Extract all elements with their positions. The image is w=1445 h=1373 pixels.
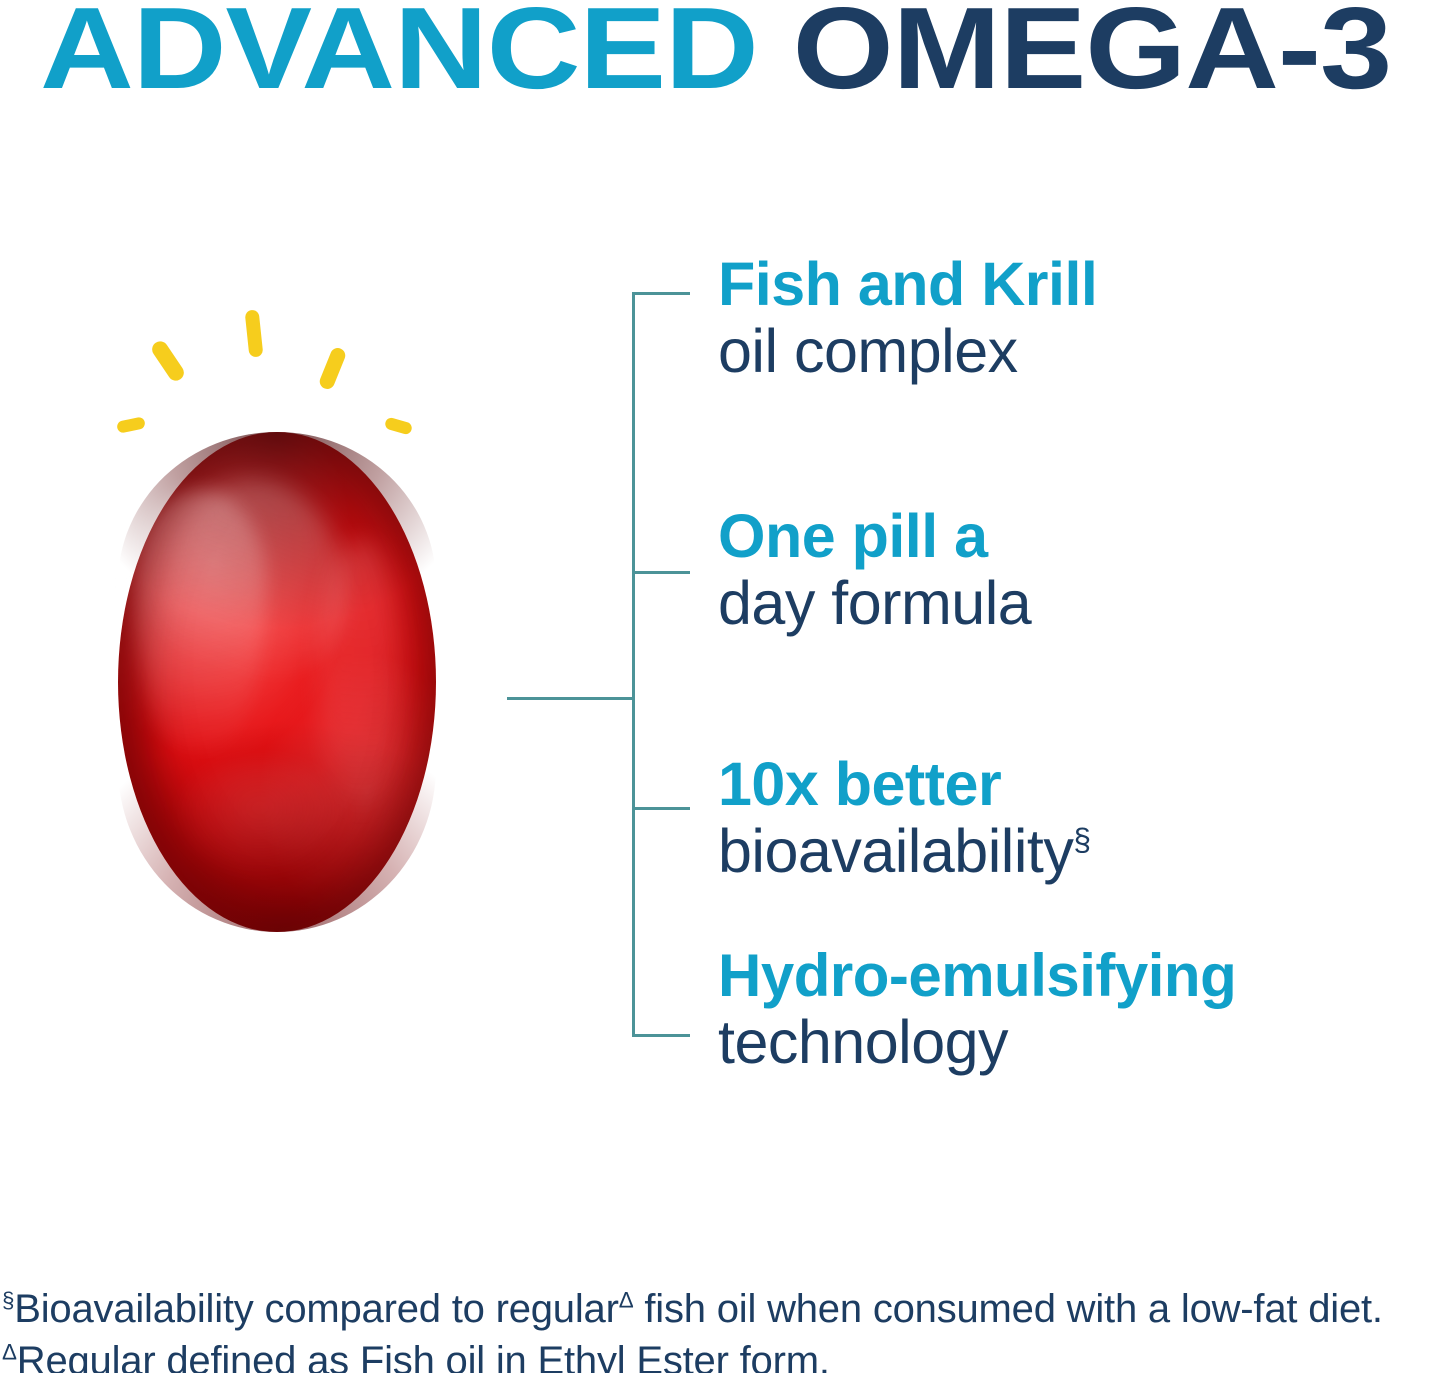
leader-spine bbox=[632, 292, 635, 1037]
sparkle-icon bbox=[116, 416, 146, 434]
title-word-omega3: OMEGA-3 bbox=[793, 0, 1392, 113]
feature-3-footnote-marker: § bbox=[1073, 821, 1090, 857]
feature-3-headline: 10x better bbox=[718, 752, 1090, 817]
feature-1-headline: Fish and Krill bbox=[718, 252, 1097, 317]
feature-item-3: 10x better bioavailability§ bbox=[718, 752, 1090, 885]
feature-2-subline-text: day formula bbox=[718, 569, 1031, 637]
footnote-block: §Bioavailability compared to regularΔ fi… bbox=[2, 1283, 1445, 1373]
leader-arm-to-product bbox=[507, 697, 634, 700]
feature-3-subline: bioavailability§ bbox=[718, 817, 1090, 885]
product-infographic: ADVANCED OMEGA-3 Fish and Krill oil comp… bbox=[0, 0, 1445, 1373]
footnote-2-marker: Δ bbox=[2, 1340, 17, 1365]
title-space bbox=[758, 0, 793, 113]
sparkle-icon bbox=[245, 309, 264, 357]
product-image bbox=[60, 290, 480, 990]
feature-1-subline-text: oil complex bbox=[718, 317, 1018, 385]
footnote-1-text-after: fish oil when consumed with a low-fat di… bbox=[633, 1287, 1382, 1331]
feature-4-subline: technology bbox=[718, 1008, 1236, 1076]
title-word-advanced: ADVANCED bbox=[40, 0, 758, 113]
sparkle-icon bbox=[317, 346, 347, 391]
footnote-2-text-before: Regular defined as Fish oil in Ethyl Est… bbox=[17, 1339, 830, 1373]
footnote-1: §Bioavailability compared to regularΔ fi… bbox=[2, 1283, 1445, 1335]
feature-1-subline: oil complex bbox=[718, 317, 1097, 385]
feature-item-4: Hydro-emulsifying technology bbox=[718, 944, 1236, 1076]
feature-2-headline: One pill a bbox=[718, 504, 1031, 569]
footnote-1-marker: § bbox=[2, 1288, 14, 1313]
leader-tick-2 bbox=[634, 571, 690, 574]
feature-3-subline-text: bioavailability bbox=[718, 817, 1073, 885]
feature-2-subline: day formula bbox=[718, 569, 1031, 637]
feature-4-headline: Hydro-emulsifying bbox=[718, 944, 1236, 1008]
footnote-2: ΔRegular defined as Fish oil in Ethyl Es… bbox=[2, 1335, 1445, 1373]
feature-4-subline-text: technology bbox=[718, 1008, 1008, 1076]
red-softgel-capsule-icon bbox=[118, 432, 436, 932]
feature-item-1: Fish and Krill oil complex bbox=[718, 252, 1097, 385]
feature-item-2: One pill a day formula bbox=[718, 504, 1031, 637]
sparkle-icon bbox=[384, 417, 413, 436]
footnote-1-text-before: Bioavailability compared to regular bbox=[14, 1287, 618, 1331]
page-title: ADVANCED OMEGA-3 bbox=[40, 0, 1391, 106]
leader-tick-4 bbox=[634, 1034, 690, 1037]
leader-tick-3 bbox=[634, 807, 690, 810]
footnote-1-inline-marker: Δ bbox=[619, 1288, 634, 1313]
sparkle-icon bbox=[149, 338, 187, 383]
leader-tick-1 bbox=[634, 292, 690, 295]
